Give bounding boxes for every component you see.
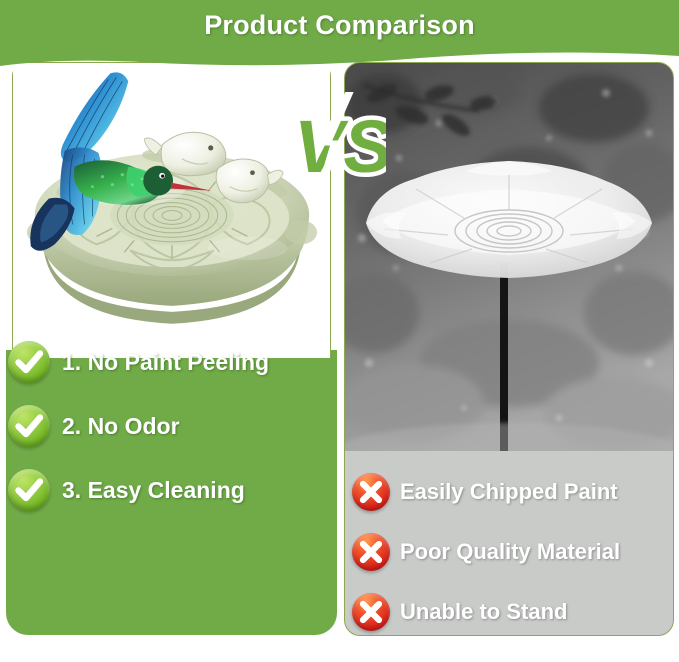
cross-glyph: [352, 593, 390, 631]
check-icon: [8, 341, 50, 383]
pros-item-label: 1. No Paint Peeling: [62, 349, 269, 376]
pros-list-item: 3. Easy Cleaning: [8, 458, 328, 522]
cons-item-label: Unable to Stand: [400, 599, 567, 625]
check-glyph: [8, 405, 50, 447]
cons-list-item: Easily Chipped Paint: [352, 462, 672, 522]
cross-icon: [352, 473, 390, 511]
page-title: Product Comparison: [0, 10, 679, 41]
pros-list-item: 1. No Paint Peeling: [8, 330, 328, 394]
right-product-photo: [345, 63, 673, 457]
glass-birdbath-photo-art: [345, 63, 673, 457]
check-icon: [8, 405, 50, 447]
cons-item-label: Easily Chipped Paint: [400, 479, 618, 505]
cross-glyph: [352, 533, 390, 571]
pros-list-item: 2. No Odor: [8, 394, 328, 458]
pros-item-label: 2. No Odor: [62, 413, 180, 440]
header-banner: Product Comparison: [0, 0, 679, 78]
left-product-photo-frame: [12, 62, 331, 358]
check-icon: [8, 469, 50, 511]
cons-item-label: Poor Quality Material: [400, 539, 620, 565]
pros-list: 1. No Paint Peeling 2. No Odor 3. Easy C…: [8, 330, 328, 522]
check-glyph: [8, 341, 50, 383]
cons-list-item: Unable to Stand: [352, 582, 672, 642]
cross-icon: [352, 533, 390, 571]
cross-icon: [352, 593, 390, 631]
check-glyph: [8, 469, 50, 511]
cross-glyph: [352, 473, 390, 511]
cons-list: Easily Chipped Paint Poor Quality Materi…: [352, 462, 672, 642]
ceramic-birdbath-photo-art: [13, 63, 330, 358]
product-comparison-infographic: Product Comparison VS VS 1. No Paint Pee…: [0, 0, 679, 662]
cons-list-item: Poor Quality Material: [352, 522, 672, 582]
pros-item-label: 3. Easy Cleaning: [62, 477, 245, 504]
